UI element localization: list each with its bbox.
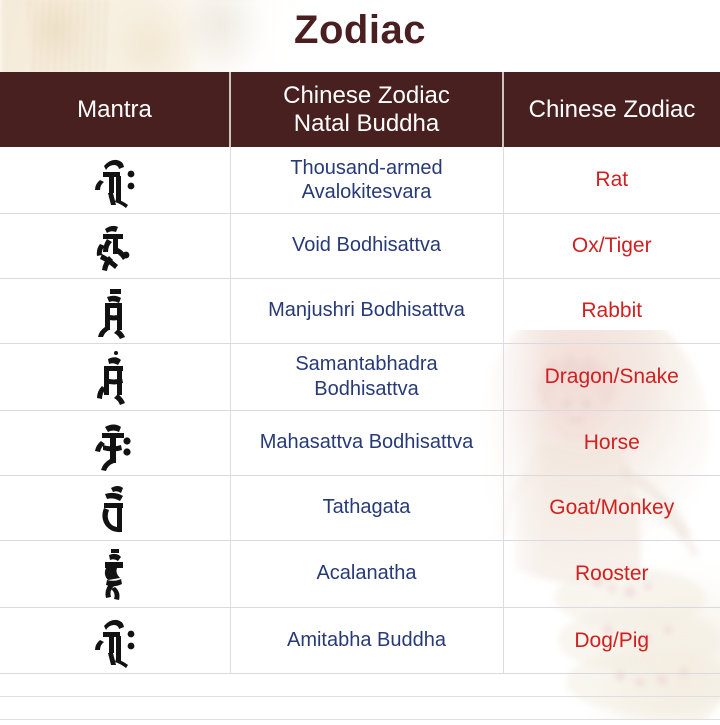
- cell-zodiac: Goat/Monkey: [503, 475, 720, 540]
- hrih-seed-syllable-icon: [91, 152, 139, 208]
- cell-natal-buddha: Samantabhadra Bodhisattva: [230, 343, 503, 410]
- cell-mantra: [0, 540, 230, 607]
- cell-natal-buddha: Amitabha Buddha: [230, 607, 503, 673]
- cell-mantra: [0, 475, 230, 540]
- zodiac-table: Mantra Chinese Zodiac Natal Buddha Chine…: [0, 72, 720, 674]
- table-row: Acalanatha Rooster: [0, 540, 720, 607]
- cell-zodiac: Dragon/Snake: [503, 343, 720, 410]
- cell-mantra: [0, 213, 230, 278]
- divider: [0, 696, 720, 697]
- trah-seed-syllable-icon: [91, 415, 139, 471]
- ham-seed-syllable-icon: [91, 545, 139, 603]
- table-row: Tathagata Goat/Monkey: [0, 475, 720, 540]
- cell-zodiac: Ox/Tiger: [503, 213, 720, 278]
- table-row: Void Bodhisattva Ox/Tiger: [0, 213, 720, 278]
- cell-mantra: [0, 147, 230, 213]
- cell-zodiac: Dog/Pig: [503, 607, 720, 673]
- cell-natal-buddha: Tathagata: [230, 475, 503, 540]
- am-seed-syllable-icon: [91, 348, 139, 406]
- cell-mantra: [0, 278, 230, 343]
- natal-buddha-line2: Avalokitesvara: [302, 181, 432, 203]
- column-header-mantra: Mantra: [0, 72, 230, 147]
- table-row: Amitabha Buddha Dog/Pig: [0, 607, 720, 673]
- column-header-natal-buddha: Chinese Zodiac Natal Buddha: [230, 72, 503, 147]
- hrih-seed-syllable-icon: [91, 612, 139, 668]
- table-trailing-rules: [0, 682, 720, 720]
- column-header-chinese-zodiac: Chinese Zodiac: [503, 72, 720, 147]
- zodiac-table-container: Mantra Chinese Zodiac Natal Buddha Chine…: [0, 72, 720, 682]
- mam-seed-syllable-icon: [91, 283, 139, 339]
- cell-zodiac: Rat: [503, 147, 720, 213]
- cell-natal-buddha: Mahasattva Bodhisattva: [230, 410, 503, 475]
- table-row: Thousand-armed Avalokitesvara Rat: [0, 147, 720, 213]
- natal-buddha-line1: Samantabhadra: [295, 353, 437, 375]
- page-title: Zodiac: [0, 8, 720, 53]
- natal-buddha-line1: Thousand-armed: [290, 157, 442, 179]
- cell-zodiac: Rabbit: [503, 278, 720, 343]
- cell-mantra: [0, 343, 230, 410]
- column-header-natal-buddha-line1: Chinese Zodiac: [283, 82, 450, 109]
- table-row: Samantabhadra Bodhisattva Dragon/Snake: [0, 343, 720, 410]
- cell-mantra: [0, 410, 230, 475]
- table-row: Manjushri Bodhisattva Rabbit: [0, 278, 720, 343]
- vam-seed-syllable-icon: [91, 480, 139, 536]
- table-header-row: Mantra Chinese Zodiac Natal Buddha Chine…: [0, 72, 720, 147]
- cell-zodiac: Rooster: [503, 540, 720, 607]
- cell-natal-buddha: Void Bodhisattva: [230, 213, 503, 278]
- cell-natal-buddha: Manjushri Bodhisattva: [230, 278, 503, 343]
- column-header-natal-buddha-line2: Natal Buddha: [294, 110, 439, 137]
- cell-natal-buddha: Acalanatha: [230, 540, 503, 607]
- table-row: Mahasattva Bodhisattva Horse: [0, 410, 720, 475]
- ah-seed-syllable-icon: [91, 218, 139, 274]
- cell-zodiac: Horse: [503, 410, 720, 475]
- cell-mantra: [0, 607, 230, 673]
- cell-natal-buddha: Thousand-armed Avalokitesvara: [230, 147, 503, 213]
- natal-buddha-line2: Bodhisattva: [314, 378, 419, 400]
